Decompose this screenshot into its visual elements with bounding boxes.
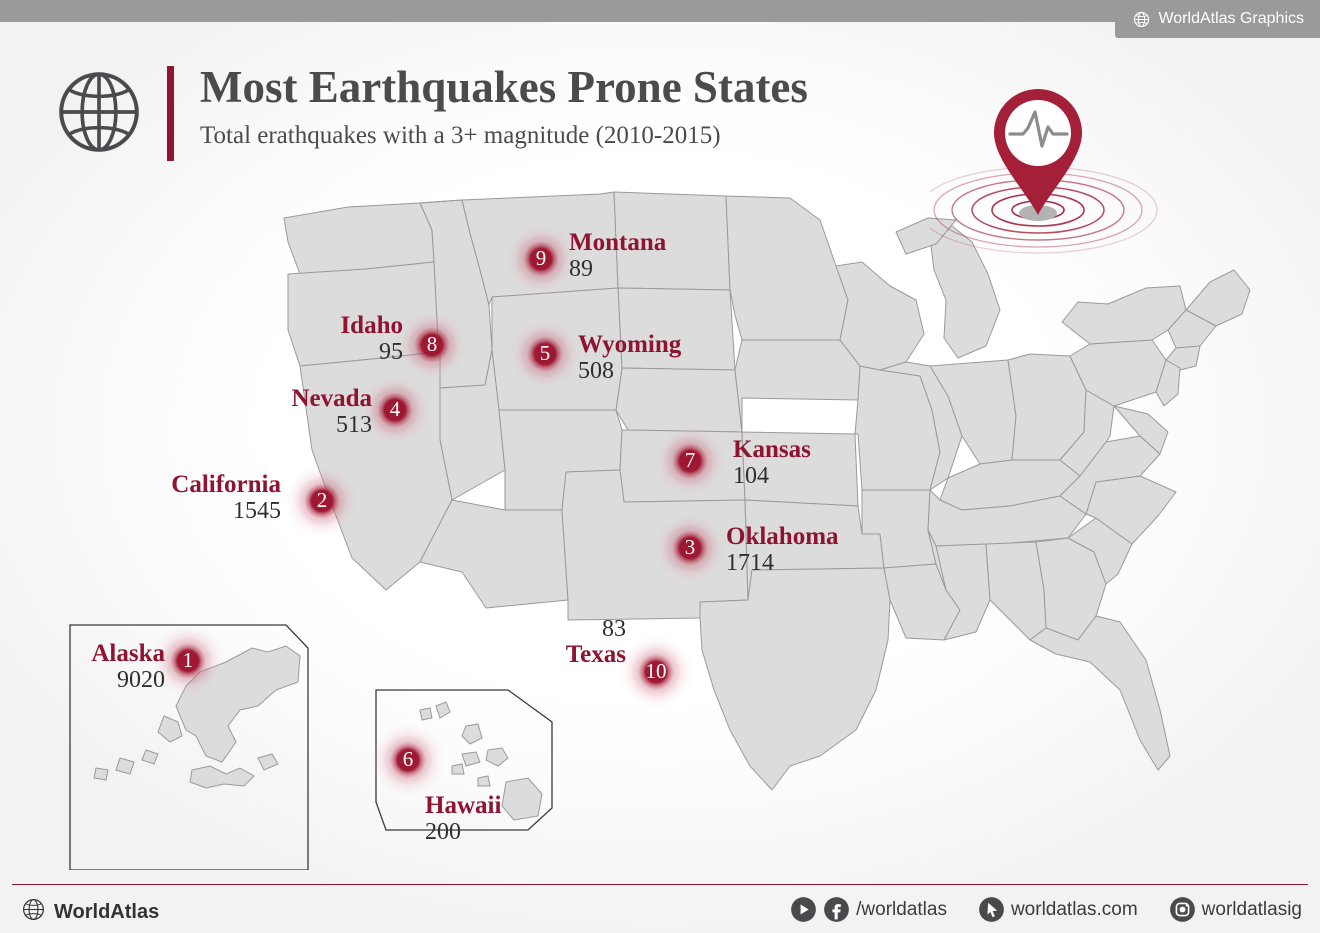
state-name: Texas — [566, 642, 626, 669]
marker-rank: 5 — [540, 343, 551, 364]
state-quake-count: 1714 — [726, 551, 839, 576]
map-marker-kansas[interactable]: 7 — [653, 424, 727, 498]
brand-badge-label: WorldAtlas Graphics — [1158, 10, 1304, 28]
header-accent-rule — [167, 66, 174, 161]
globe-icon — [1133, 11, 1150, 28]
map-label-idaho: Idaho95 — [340, 313, 403, 365]
marker-rank: 3 — [685, 537, 696, 558]
map-label-montana: Montana89 — [569, 230, 666, 282]
map-label-oklahoma: Oklahoma1714 — [726, 524, 839, 576]
youtube-icon[interactable] — [790, 896, 817, 923]
social-group-website[interactable]: worldatlas.com — [978, 896, 1138, 923]
state-name: California — [171, 472, 281, 499]
footer-brand-label: WorldAtlas — [54, 901, 159, 924]
map-label-texas: 83Texas — [566, 617, 626, 669]
social-label-instagram: worldatlasig — [1202, 899, 1302, 921]
marker-rank: 9 — [536, 248, 547, 269]
marker-rank: 4 — [390, 399, 401, 420]
map-marker-texas[interactable]: 10 — [619, 635, 693, 709]
social-group-instagram[interactable]: worldatlasig — [1169, 896, 1302, 923]
state-quake-count: 83 — [566, 617, 626, 642]
map-label-alaska: Alaska9020 — [91, 641, 165, 693]
map-label-kansas: Kansas104 — [733, 437, 811, 489]
state-name: Montana — [569, 230, 666, 257]
map-label-wyoming: Wyoming508 — [578, 332, 681, 384]
page-header: Most Earthquakes Prone States Total erat… — [55, 62, 808, 161]
page-title: Most Earthquakes Prone States — [200, 64, 808, 111]
footer-brand: WorldAtlas — [22, 898, 159, 926]
facebook-icon[interactable] — [823, 896, 850, 923]
state-quake-count: 9020 — [91, 668, 165, 693]
state-name: Wyoming — [578, 332, 681, 359]
globe-icon — [55, 68, 143, 156]
globe-icon — [22, 898, 45, 926]
state-quake-count: 508 — [578, 359, 681, 384]
state-name: Idaho — [340, 313, 403, 340]
seismic-pin-icon — [930, 62, 1160, 262]
state-quake-count: 200 — [425, 820, 501, 845]
page-subtitle: Total erathquakes with a 3+ magnitude (2… — [200, 122, 808, 150]
marker-rank: 1 — [183, 650, 194, 671]
instagram-icon[interactable] — [1169, 896, 1196, 923]
map-label-california: California1545 — [171, 472, 281, 524]
state-quake-count: 104 — [733, 464, 811, 489]
state-quake-count: 89 — [569, 257, 666, 282]
footer-divider — [12, 884, 1308, 885]
state-quake-count: 513 — [291, 413, 372, 438]
map-label-hawaii: Hawaii200 — [425, 793, 501, 845]
marker-rank: 6 — [403, 749, 414, 770]
map-marker-oklahoma[interactable]: 3 — [653, 511, 727, 585]
social-label-worldatlas: /worldatlas — [856, 899, 947, 921]
state-name: Oklahoma — [726, 524, 839, 551]
cursor-icon[interactable] — [978, 896, 1005, 923]
map-marker-montana[interactable]: 9 — [504, 222, 578, 296]
map-label-nevada: Nevada513 — [291, 386, 372, 438]
map-marker-wyoming[interactable]: 5 — [508, 317, 582, 391]
marker-rank: 8 — [427, 334, 438, 355]
marker-rank: 10 — [646, 661, 667, 682]
marker-rank: 7 — [685, 450, 696, 471]
map-marker-hawaii[interactable]: 6 — [371, 723, 445, 797]
worldatlas-graphics-badge: WorldAtlas Graphics — [1115, 0, 1320, 38]
state-name: Nevada — [291, 386, 372, 413]
state-quake-count: 1545 — [171, 499, 281, 524]
state-quake-count: 95 — [340, 340, 403, 365]
state-name: Hawaii — [425, 793, 501, 820]
marker-rank: 2 — [317, 490, 328, 511]
footer-social: /worldatlas worldatlas.com worldatlasig — [790, 896, 1302, 923]
map-marker-idaho[interactable]: 8 — [395, 308, 469, 382]
map-marker-california[interactable]: 2 — [285, 464, 359, 538]
state-name: Kansas — [733, 437, 811, 464]
social-group-worldatlas[interactable]: /worldatlas — [790, 896, 947, 923]
social-label-website: worldatlas.com — [1011, 899, 1138, 921]
state-name: Alaska — [91, 641, 165, 668]
